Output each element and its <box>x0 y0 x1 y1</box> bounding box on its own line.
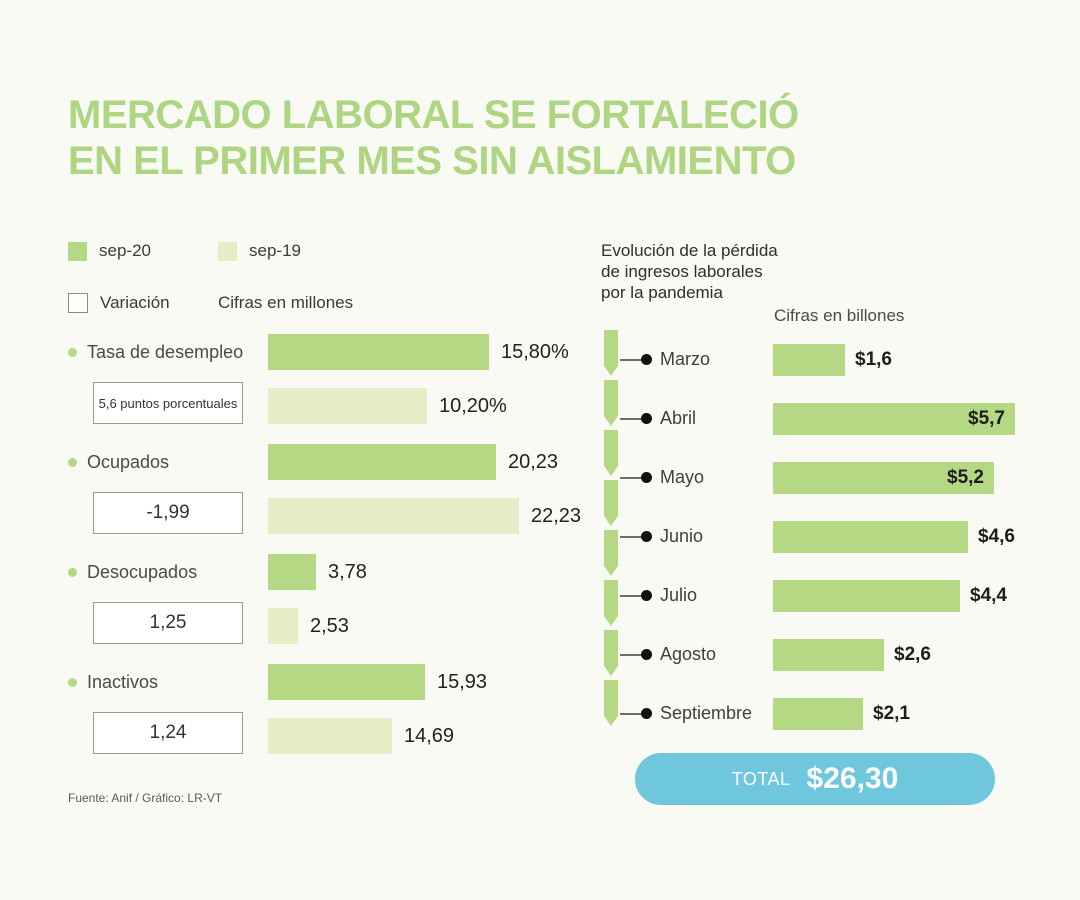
chevron-down-icon <box>604 630 618 676</box>
legend-label-sep-20: sep-20 <box>99 241 151 261</box>
month-bar: $5,7 <box>773 403 1015 435</box>
timeline-node-dot-icon <box>641 649 652 660</box>
bar-row-sep-20: 20,23 <box>268 444 558 480</box>
page-title: Mercado laboral se fortaleció en el prim… <box>68 92 888 184</box>
bar-value-sep-20: 20,23 <box>508 451 558 474</box>
month-row-abril: Abril $5,7 <box>620 389 1040 448</box>
infographic-canvas: Mercado laboral se fortaleció en el prim… <box>0 0 1080 900</box>
chevron-down-icon <box>604 480 618 526</box>
variation-value: 5,6 puntos porcentuales <box>99 396 238 411</box>
chart-group-tasa-de-desempleo: Tasa de desempleo 5,6 puntos porcentuale… <box>68 330 608 440</box>
legend: sep-20 sep-19 Variación Cifras en millon… <box>68 238 538 316</box>
chevron-down-icon <box>604 530 618 576</box>
timeline-node-dot-icon <box>641 590 652 601</box>
chevron-down-icon <box>604 580 618 626</box>
month-value: $5,2 <box>947 467 984 489</box>
chart-group-inactivos: Inactivos 1,24 15,93 14,69 <box>68 660 608 780</box>
labor-market-chart: Tasa de desempleo 5,6 puntos porcentuale… <box>68 330 608 780</box>
variation-value: 1,25 <box>150 612 187 634</box>
bar-sep-19 <box>268 498 519 534</box>
timeline-connector-line <box>620 477 642 479</box>
pandemic-losses-title-line-2: de ingresos laborales <box>601 261 841 282</box>
legend-label-variation: Variación <box>100 293 170 313</box>
bullet-dot-icon <box>68 458 77 467</box>
month-row-julio: Julio $4,4 <box>620 566 1040 625</box>
month-label: Marzo <box>660 349 710 370</box>
month-value: $5,7 <box>968 408 1005 430</box>
timeline-node-dot-icon <box>641 413 652 424</box>
month-bar-wrap: $4,4 <box>773 580 1007 612</box>
variation-box: 1,24 <box>93 712 243 754</box>
legend-row-variation: Variación Cifras en millones <box>68 290 538 316</box>
bar-value-sep-19: 14,69 <box>404 725 454 748</box>
category-label: Inactivos <box>87 672 158 693</box>
bar-row-sep-19: 2,53 <box>268 608 349 644</box>
pandemic-losses-title: Evolución de la pérdida de ingresos labo… <box>601 240 841 303</box>
month-bar-wrap: $5,2 <box>773 462 994 494</box>
month-bar-wrap: $1,6 <box>773 344 892 376</box>
chevron-down-icon <box>604 330 618 376</box>
pandemic-losses-units: Cifras en billones <box>774 306 904 326</box>
month-row-mayo: Mayo $5,2 <box>620 448 1040 507</box>
category-label-row: Desocupados <box>68 562 197 583</box>
month-bar <box>773 521 968 553</box>
variation-value: -1,99 <box>146 502 189 524</box>
bullet-dot-icon <box>68 678 77 687</box>
bar-row-sep-20: 15,93 <box>268 664 487 700</box>
page-title-line-1: Mercado laboral se fortaleció <box>68 92 888 138</box>
total-label: TOTAL <box>732 769 791 790</box>
month-value: $4,4 <box>970 585 1007 607</box>
bar-sep-19 <box>268 388 427 424</box>
month-label: Junio <box>660 526 703 547</box>
bar-value-sep-19: 2,53 <box>310 615 349 638</box>
pandemic-losses-title-line-3: por la pandemia <box>601 282 841 303</box>
month-bar <box>773 580 960 612</box>
variation-value: 1,24 <box>150 722 187 744</box>
total-badge: TOTAL $26,30 <box>635 753 995 805</box>
legend-item-sep-20: sep-20 <box>68 241 218 261</box>
month-bar-wrap: $2,6 <box>773 639 931 671</box>
chevron-down-icon <box>604 680 618 726</box>
bar-sep-19 <box>268 608 298 644</box>
month-label: Julio <box>660 585 697 606</box>
variation-box: -1,99 <box>93 492 243 534</box>
bar-row-sep-20: 3,78 <box>268 554 367 590</box>
legend-units-note: Cifras en millones <box>218 293 353 313</box>
month-value: $1,6 <box>855 349 892 371</box>
timeline-node-dot-icon <box>641 472 652 483</box>
pandemic-losses-title-line-1: Evolución de la pérdida <box>601 240 841 261</box>
monthly-losses-list: Marzo $1,6 Abril $5,7 Mayo $5,2 <box>620 330 1040 743</box>
timeline-node-dot-icon <box>641 354 652 365</box>
bar-sep-20 <box>268 554 316 590</box>
timeline-connector-line <box>620 536 642 538</box>
category-label-row: Ocupados <box>68 452 169 473</box>
month-label: Agosto <box>660 644 716 665</box>
month-bar <box>773 639 884 671</box>
page-title-line-2: en el primer mes sin aislamiento <box>68 138 888 184</box>
timeline-connector-line <box>620 654 642 656</box>
legend-swatch-outline-icon <box>68 293 88 313</box>
timeline-rail <box>604 330 618 732</box>
timeline-node-dot-icon <box>641 531 652 542</box>
bullet-dot-icon <box>68 568 77 577</box>
bar-value-sep-20: 15,93 <box>437 671 487 694</box>
month-row-junio: Junio $4,6 <box>620 507 1040 566</box>
bar-value-sep-19: 10,20% <box>439 395 507 418</box>
bar-sep-20 <box>268 444 496 480</box>
month-bar-wrap: $4,6 <box>773 521 1015 553</box>
legend-label-sep-19: sep-19 <box>249 241 301 261</box>
category-label: Desocupados <box>87 562 197 583</box>
bar-row-sep-20: 15,80% <box>268 334 569 370</box>
bar-sep-20 <box>268 334 489 370</box>
legend-item-variation: Variación <box>68 293 218 313</box>
month-label: Mayo <box>660 467 704 488</box>
legend-swatch-light-green-icon <box>218 242 237 261</box>
month-value: $2,1 <box>873 703 910 725</box>
bar-sep-20 <box>268 664 425 700</box>
bar-sep-19 <box>268 718 392 754</box>
chevron-down-icon <box>604 430 618 476</box>
month-bar: $5,2 <box>773 462 994 494</box>
month-value: $2,6 <box>894 644 931 666</box>
category-label-row: Tasa de desempleo <box>68 342 243 363</box>
bar-value-sep-20: 3,78 <box>328 561 367 584</box>
month-label: Abril <box>660 408 696 429</box>
legend-item-sep-19: sep-19 <box>218 241 378 261</box>
chevron-down-icon <box>604 380 618 426</box>
month-bar-wrap: $2,1 <box>773 698 910 730</box>
variation-box: 5,6 puntos porcentuales <box>93 382 243 424</box>
month-row-septiembre: Septiembre $2,1 <box>620 684 1040 743</box>
chart-group-desocupados: Desocupados 1,25 3,78 2,53 <box>68 550 608 660</box>
chart-group-ocupados: Ocupados -1,99 20,23 22,23 <box>68 440 608 550</box>
bar-row-sep-19: 10,20% <box>268 388 507 424</box>
source-credit: Fuente: Anif / Gráfico: LR-VT <box>68 791 222 805</box>
legend-row-series: sep-20 sep-19 <box>68 238 538 264</box>
category-label: Ocupados <box>87 452 169 473</box>
bullet-dot-icon <box>68 348 77 357</box>
month-bar <box>773 698 863 730</box>
month-label: Septiembre <box>660 703 752 724</box>
bar-row-sep-19: 14,69 <box>268 718 454 754</box>
timeline-connector-line <box>620 359 642 361</box>
bar-row-sep-19: 22,23 <box>268 498 581 534</box>
timeline-connector-line <box>620 595 642 597</box>
timeline-node-dot-icon <box>641 708 652 719</box>
variation-box: 1,25 <box>93 602 243 644</box>
month-value: $4,6 <box>978 526 1015 548</box>
bar-value-sep-20: 15,80% <box>501 341 569 364</box>
timeline-connector-line <box>620 713 642 715</box>
category-label: Tasa de desempleo <box>87 342 243 363</box>
bar-value-sep-19: 22,23 <box>531 505 581 528</box>
legend-swatch-dark-green-icon <box>68 242 87 261</box>
timeline-connector-line <box>620 418 642 420</box>
pandemic-losses-panel: Evolución de la pérdida de ingresos labo… <box>601 240 1041 303</box>
category-label-row: Inactivos <box>68 672 158 693</box>
month-bar <box>773 344 845 376</box>
month-bar-wrap: $5,7 <box>773 403 1015 435</box>
month-row-agosto: Agosto $2,6 <box>620 625 1040 684</box>
month-row-marzo: Marzo $1,6 <box>620 330 1040 389</box>
total-value: $26,30 <box>807 762 899 796</box>
